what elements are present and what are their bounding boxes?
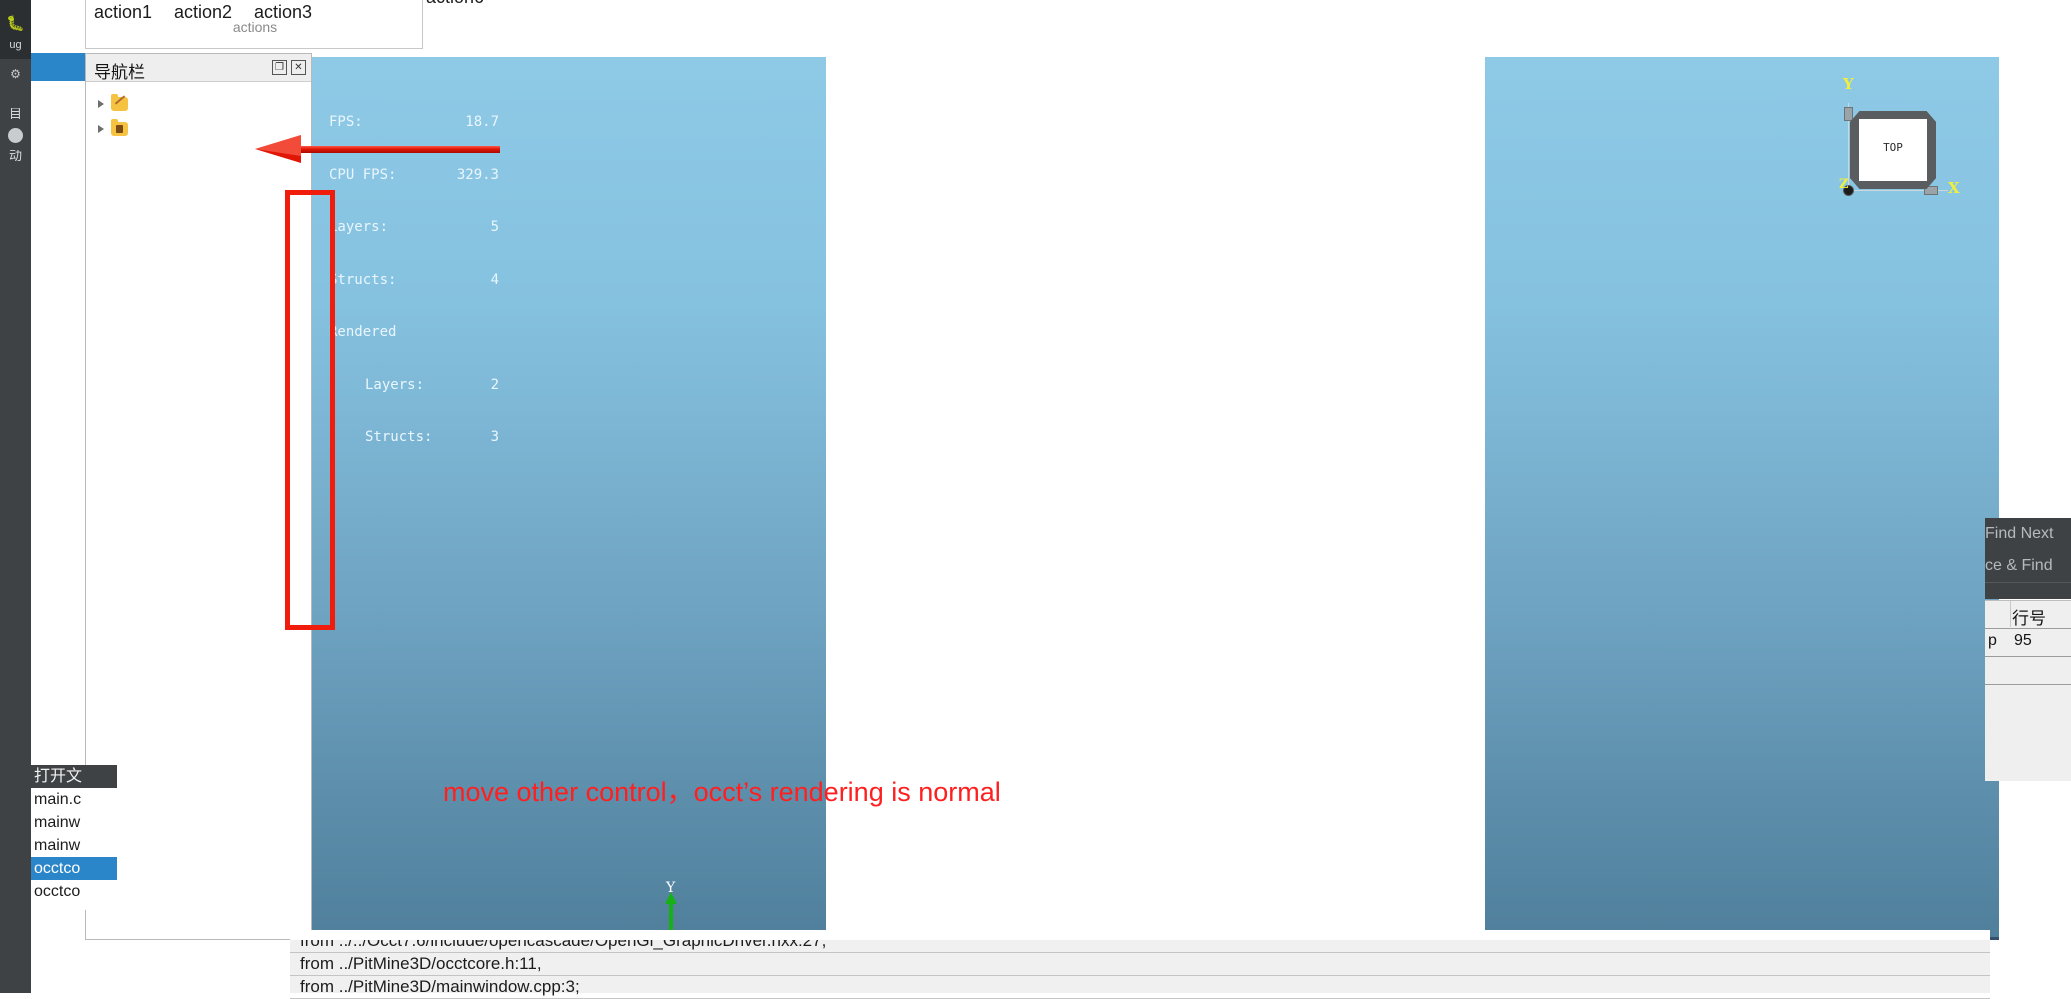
stats-row: Rendered [329,324,499,342]
mode-item-run-label[interactable]: 动 [0,150,31,161]
float-icon[interactable]: ❐ [272,60,287,75]
line-number-table: 行号 p 95 [1985,600,2071,781]
view-cube-label-x: X [1948,179,1960,197]
stats-row: FPS:18.7 [329,114,499,132]
output-line[interactable]: from ../PitMine3D/occtcore.h:11, [290,953,1990,976]
table-cell-line: 95 [2014,632,2032,650]
wrench-icon[interactable]: ⚙ [0,68,31,80]
output-line-text: from ../PitMine3D/occtcore.h:11, [300,954,542,974]
stats-label: Structs: [329,429,437,447]
stats-label: FPS: [329,114,437,132]
list-item-selected[interactable]: occtco [31,857,117,880]
open-documents-list: 打开文 main.c mainw mainw occtco occtco [31,765,117,910]
actions-window-caption: actions [86,19,424,35]
annotation-arrow-head-highlight [255,135,301,156]
table-row[interactable]: p 95 [1985,629,2071,657]
stats-row: Structs:3 [329,429,499,447]
table-cell-file: p [1988,632,1997,650]
stats-value: 4 [437,272,499,290]
view-cube-face[interactable]: TOP [1859,119,1927,181]
stats-value: 2 [437,377,499,395]
stats-row: Layers:5 [329,219,499,237]
stats-label: Rendered [329,324,437,342]
stats-label: Structs: [329,272,437,290]
list-item[interactable]: mainw [31,811,117,834]
chevron-right-icon[interactable] [98,125,104,133]
list-item[interactable]: occtco [31,880,117,903]
output-line[interactable]: from ../PitMine3D/mainwindow.cpp:3; [290,976,1990,999]
sidebar-selected-strip[interactable] [31,53,85,81]
background-filler-left [31,0,85,53]
toolbar-action6[interactable]: action6 [426,0,484,8]
annotation-text: move other control，occt’s rendering is n… [443,770,1001,809]
find-panel-divider [1985,582,2071,583]
stats-label: Layers: [329,219,437,237]
stats-row: Layers:2 [329,377,499,395]
table-header-row: 行号 [1985,601,2071,629]
view-cube-y-tick[interactable] [1844,107,1853,121]
output-line-text: from ../PitMine3D/mainwindow.cpp:3; [300,977,580,997]
annotation-arrow-shaft [300,146,500,153]
mode-item-debug-label: ug [0,40,31,51]
stats-value: 5 [437,219,499,237]
bug-icon[interactable]: 🐛 [0,18,31,30]
background-filler-top [423,0,1999,57]
find-panel: Find Next ce & Find [1985,518,2071,599]
open-documents-header: 打开文 [31,765,117,788]
stats-label: Layers: [329,377,437,395]
folder-lock-icon [111,122,128,136]
chevron-right-icon[interactable] [98,100,104,108]
background-filler-top-right [1999,0,2071,57]
actions-toolbar-window: action1 action2 action3 actions action6 [85,0,423,49]
find-next-button[interactable]: Find Next [1985,518,2071,550]
ide-mode-bar: 🐛 ug ⚙ 目 动 [0,0,31,993]
tree-item-0[interactable] [86,94,311,118]
view-cube-label-z: Z [1839,177,1849,192]
circle-icon[interactable] [0,128,31,145]
navigation-dock: 导航栏 ❐ ✕ [85,53,312,940]
background-filler-right [1999,57,2071,930]
table-row-empty[interactable] [1985,657,2071,685]
occt-3d-viewport[interactable]: FPS:18.7 CPU FPS:329.3 Layers:5 Structs:… [312,57,1999,937]
view-cube-label-y: Y [1843,75,1854,93]
navigation-dock-title: 导航栏 [94,58,145,83]
list-item[interactable]: mainw [31,834,117,857]
annotation-highlight-rect [285,190,335,630]
folder-edit-icon [111,97,128,111]
close-icon[interactable]: ✕ [291,60,306,75]
navigation-dock-body [86,82,311,939]
navigation-dock-titlebar: 导航栏 ❐ ✕ [86,54,311,82]
view-cube-widget[interactable]: TOP Y X Z [1824,79,1964,204]
view-cube-face-label: TOP [1859,141,1927,154]
stats-value: 18.7 [437,114,499,132]
trihedron-label-y: Y [666,880,675,896]
table-header-col2[interactable]: 行号 [2012,604,2046,629]
table-header-col1[interactable] [1985,601,2011,627]
output-top-mask [290,930,1990,940]
list-item[interactable]: main.c [31,788,117,811]
mode-item-projects-label[interactable]: 目 [0,108,31,119]
stats-value: 3 [437,429,499,447]
replace-and-find-button[interactable]: ce & Find [1985,550,2071,582]
annotation-arrow [250,130,500,170]
stats-row: Structs:4 [329,272,499,290]
